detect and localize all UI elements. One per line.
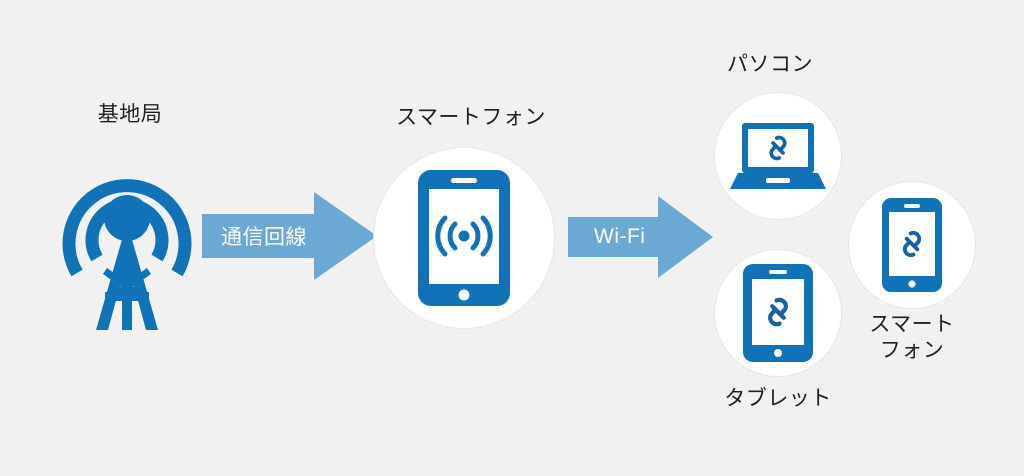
communication-line-arrow: 通信回線 xyxy=(202,192,377,280)
diagram-canvas: 基地局 通信回線 スマートフォン xyxy=(0,0,1024,476)
pc-label: パソコン xyxy=(680,52,860,78)
laptop-link-icon xyxy=(730,121,826,191)
smartphone-client-label: スマート フォン xyxy=(852,312,972,364)
tablet-label: タブレット xyxy=(688,386,868,412)
smartphone-link-icon xyxy=(881,197,943,293)
cell-tower-icon xyxy=(52,140,202,330)
communication-line-arrow-label: 通信回線 xyxy=(221,221,307,251)
base-station-label: 基地局 xyxy=(55,102,205,128)
smartphone-hub-circle xyxy=(373,147,555,329)
smartphone-hub-label: スマートフォン xyxy=(378,105,564,131)
wifi-arrow: Wi-Fi xyxy=(568,196,713,278)
pc-circle xyxy=(714,92,842,220)
tablet-circle xyxy=(714,249,842,377)
tablet-link-icon xyxy=(742,263,814,363)
smartphone-client-circle xyxy=(848,181,976,309)
smartphone-broadcast-icon xyxy=(416,168,512,308)
wifi-arrow-label: Wi-Fi xyxy=(594,225,645,249)
